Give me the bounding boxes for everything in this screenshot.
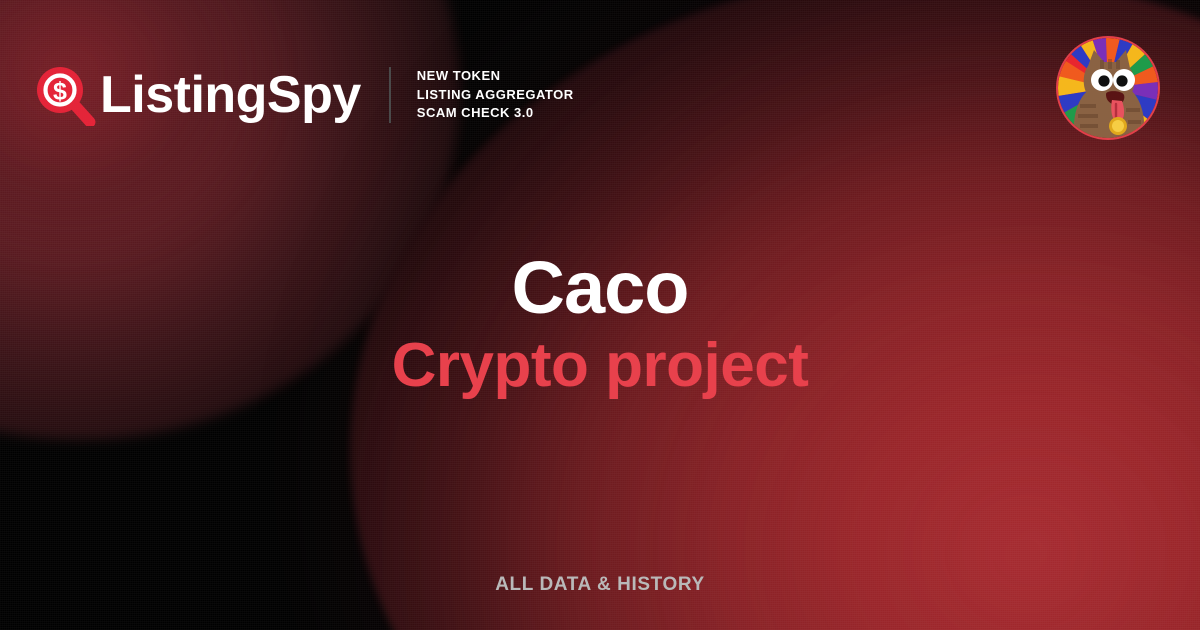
brand-tagline: NEW TOKEN LISTING AGGREGATOR SCAM CHECK … — [417, 68, 574, 122]
magnifier-dollar-icon: $ — [34, 64, 96, 126]
svg-text:$: $ — [53, 78, 67, 106]
header-divider — [389, 67, 391, 123]
footer-block: ALL DATA & HISTORY — [0, 574, 1200, 596]
token-name: Caco — [0, 250, 1200, 326]
brand-name-part2: Spy — [267, 66, 361, 124]
token-headline-block: Caco Crypto project — [0, 250, 1200, 400]
token-kind: Crypto project — [0, 332, 1200, 400]
tagline-line-3: SCAM CHECK 3.0 — [417, 105, 574, 122]
promo-card: $ ListingSpy NEW TOKEN LISTING AGGREGATO… — [0, 0, 1200, 630]
footer-label: ALL DATA & HISTORY — [495, 574, 705, 595]
pixel-cat-avatar — [1058, 38, 1158, 138]
brand-header: $ ListingSpy NEW TOKEN LISTING AGGREGATO… — [34, 52, 574, 138]
brand-wordmark: ListingSpy — [100, 69, 361, 121]
tagline-line-2: LISTING AGGREGATOR — [417, 87, 574, 104]
tagline-line-1: NEW TOKEN — [417, 68, 574, 85]
brand-name-part1: Listing — [100, 66, 267, 124]
